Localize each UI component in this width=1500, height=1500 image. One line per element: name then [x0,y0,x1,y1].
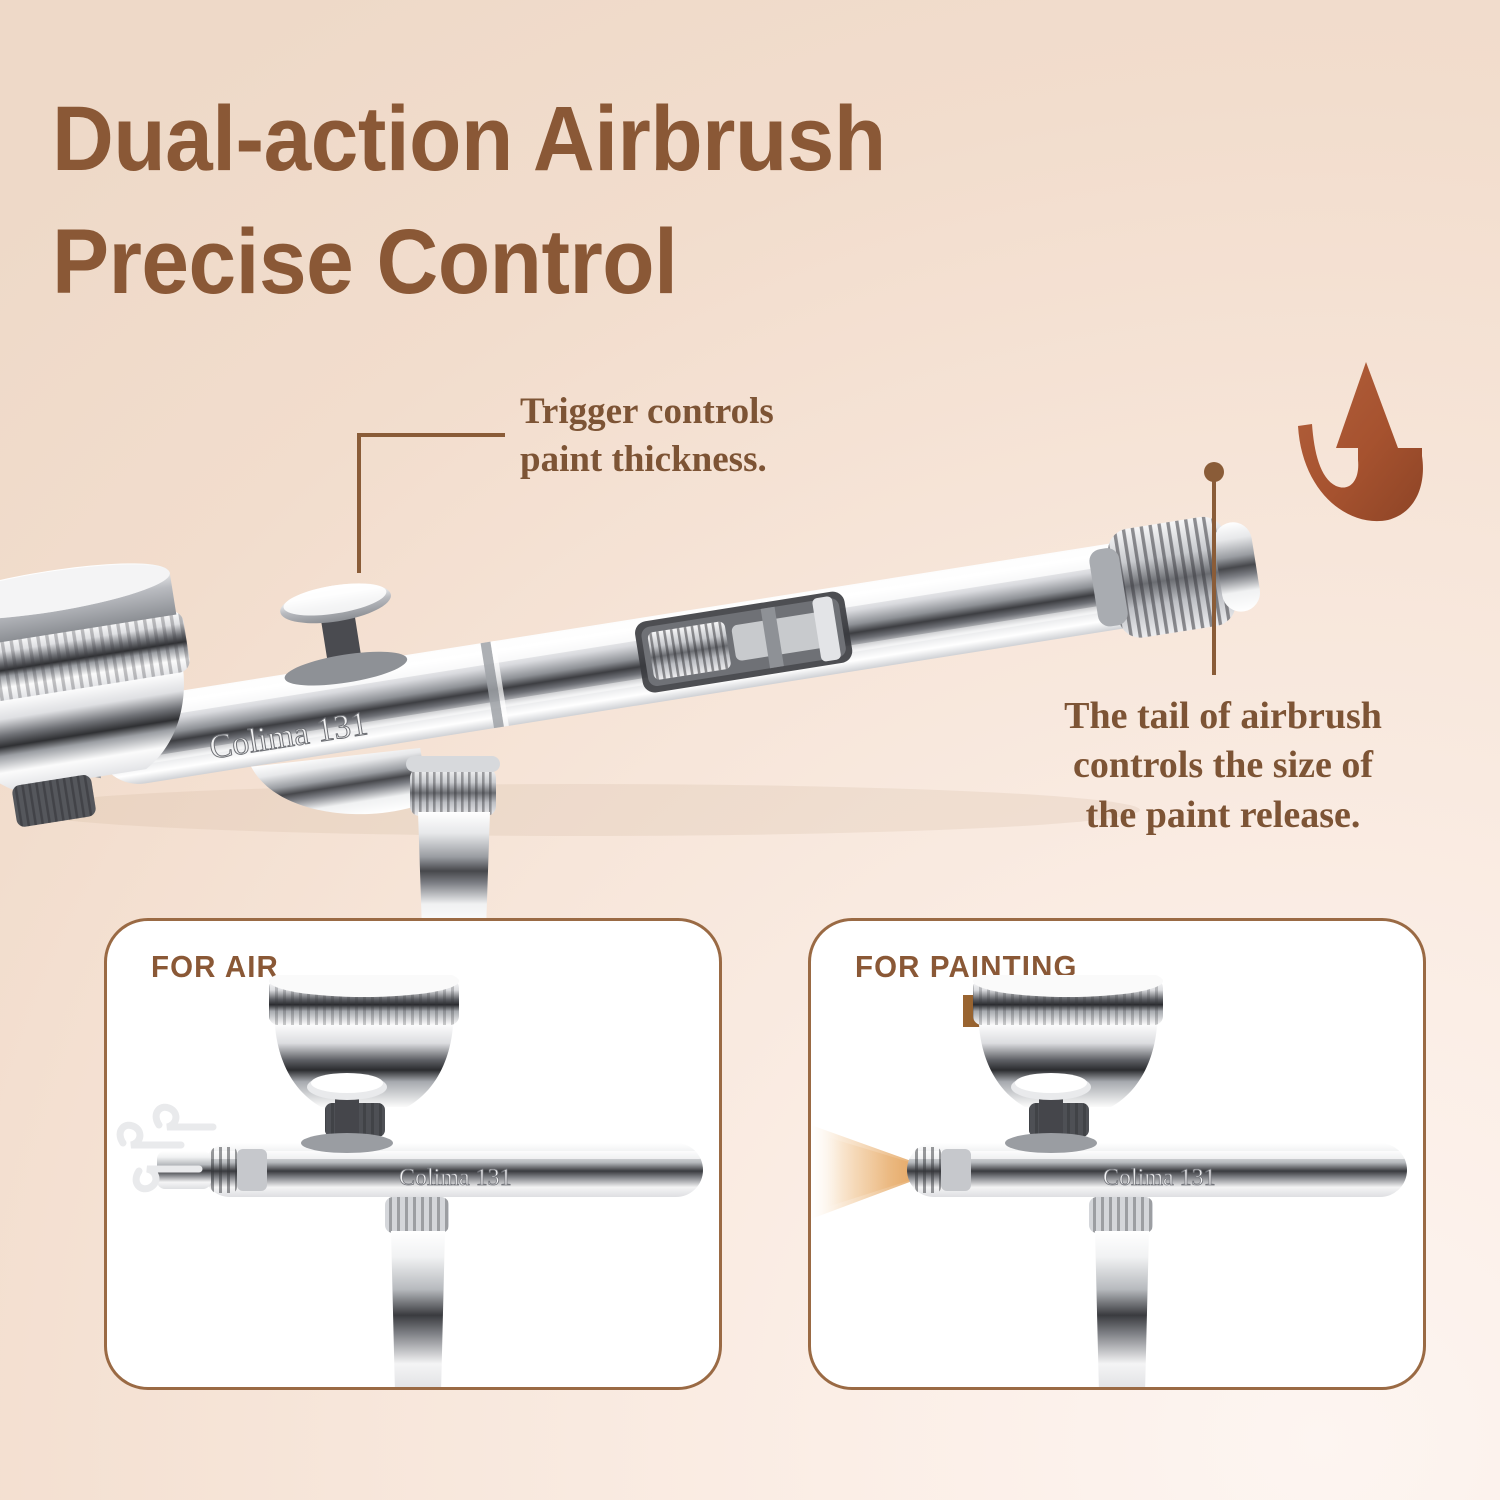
card-painting-illustration: Colima 131 [811,975,1426,1390]
leader-line-trigger-vertical [357,433,361,573]
card-for-painting: FOR PAINTING [808,918,1426,1390]
card-painting-engraving: Colima 131 [1103,1165,1216,1191]
rotate-tail-arrow-icon [1292,352,1462,532]
leader-dot-tail [1204,462,1224,482]
callout-tail-text: The tail of airbrush controls the size o… [1013,692,1433,840]
card-air-illustration: Colima 131 [107,975,722,1390]
page-title: Dual-action Airbrush Precise Control [52,78,1242,325]
callout-trigger-text: Trigger controls paint thickness. [520,388,920,484]
card-for-air: FOR AIR [104,918,722,1390]
leader-line-tail [1212,470,1216,675]
card-air-engraving: Colima 131 [399,1165,512,1191]
poster-canvas: Dual-action Airbrush Precise Control [0,0,1500,1500]
leader-line-trigger-horizontal [357,433,505,437]
